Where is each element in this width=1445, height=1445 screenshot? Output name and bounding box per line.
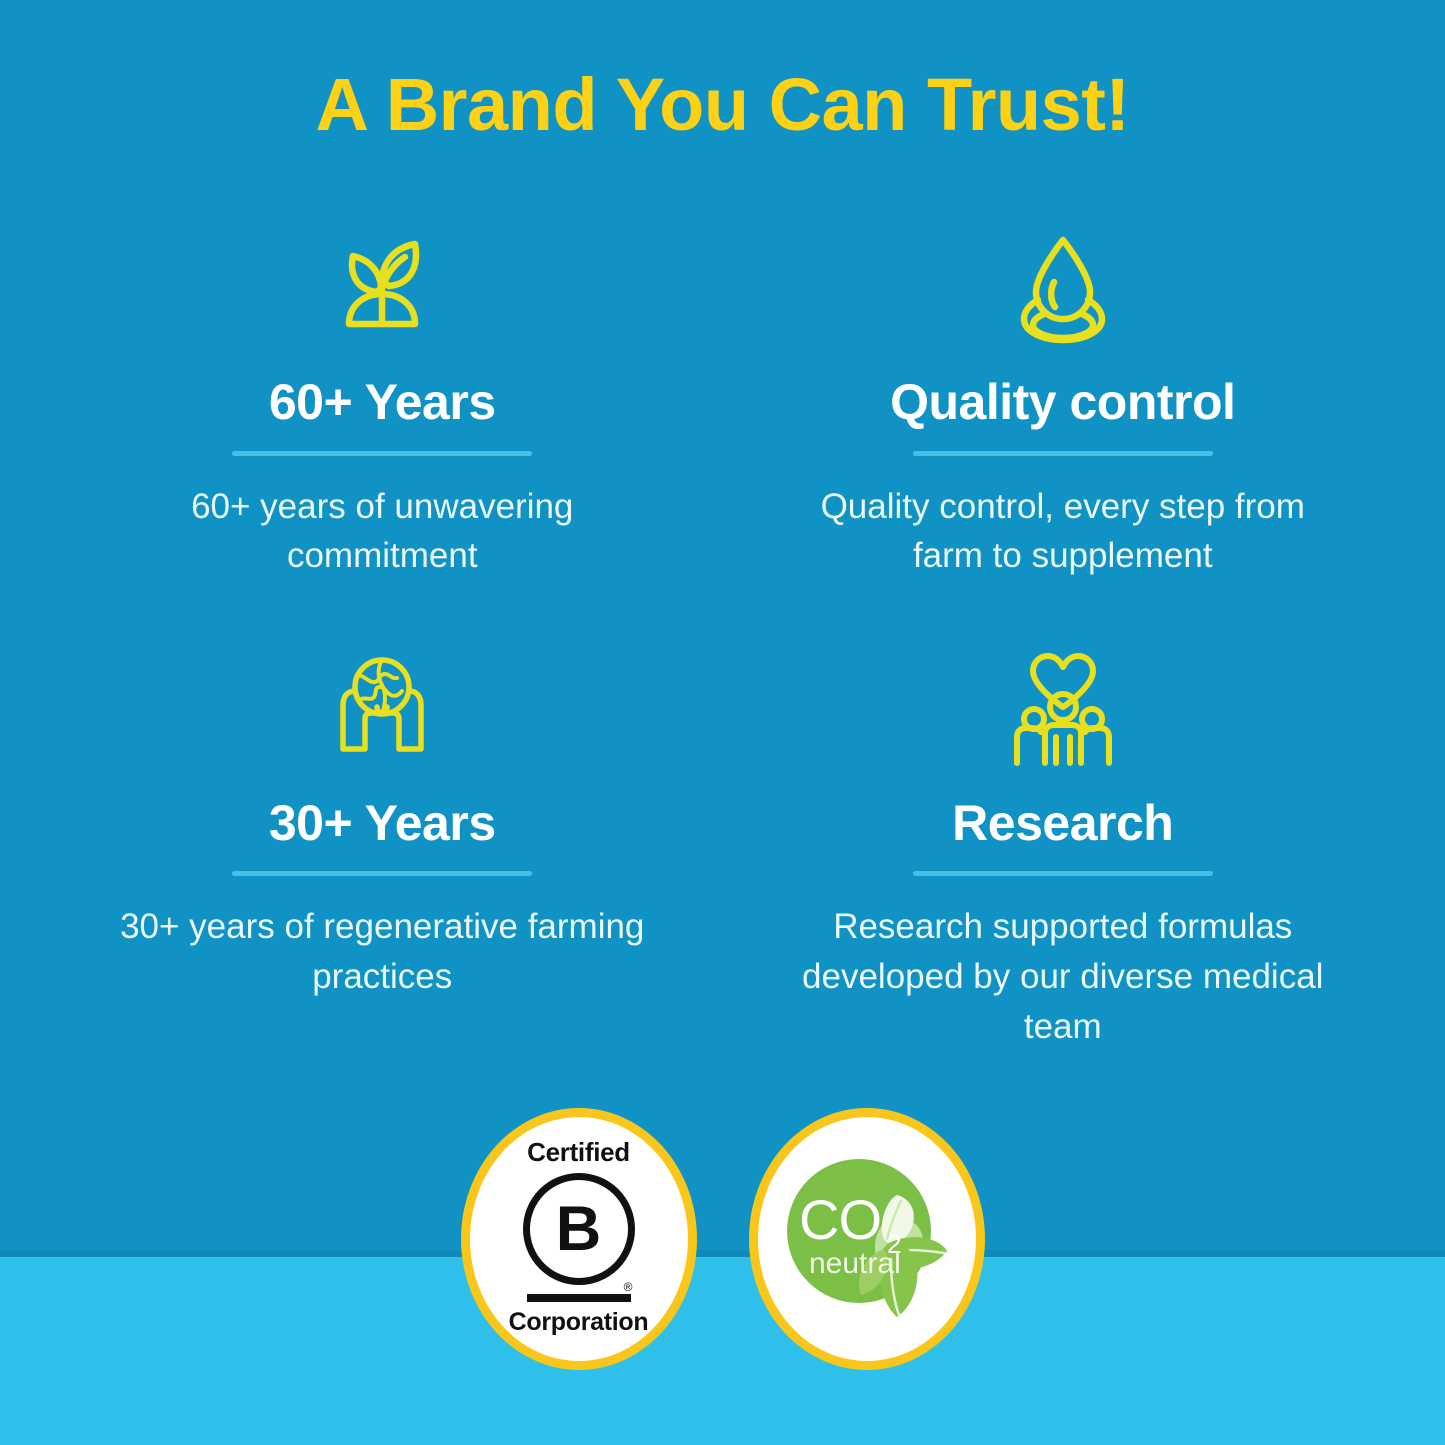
sprout-icon	[319, 222, 445, 352]
feature-card-quality-control: Quality control Quality control, every s…	[723, 222, 1404, 581]
co2-neutral-badge: CO 2 neutral	[749, 1108, 985, 1370]
feature-title: Research	[952, 797, 1173, 850]
bcorp-b-mark: B	[523, 1173, 635, 1285]
bcorp-certified-label: Certified	[527, 1139, 630, 1165]
svg-text:CO: CO	[799, 1188, 881, 1251]
bcorp-rule	[527, 1294, 631, 1302]
feature-card-60-years: 60+ Years 60+ years of unwavering commit…	[42, 222, 723, 581]
feature-body: Research supported formulas developed by…	[783, 902, 1343, 1051]
svg-text:neutral: neutral	[809, 1247, 901, 1280]
globe-in-hands-icon	[319, 643, 445, 773]
certified-b-corporation-badge: Certified B ® Corporation	[461, 1108, 697, 1370]
registered-trademark-icon: ®	[624, 1281, 633, 1293]
feature-divider	[913, 451, 1213, 456]
feature-title: Quality control	[890, 376, 1235, 429]
page-title: A Brand You Can Trust!	[0, 68, 1445, 142]
feature-body: Quality control, every step from farm to…	[783, 482, 1343, 581]
infographic-canvas: A Brand You Can Trust! 60+ Years 60+ yea…	[0, 0, 1445, 1445]
family-heart-icon	[1000, 643, 1126, 773]
bcorp-rule-group: ®	[527, 1294, 631, 1302]
feature-title: 60+ Years	[269, 376, 496, 429]
feature-divider	[232, 871, 532, 876]
water-drop-icon	[1000, 222, 1126, 352]
feature-card-research: Research Research supported formulas dev…	[723, 643, 1404, 1052]
feature-divider	[232, 451, 532, 456]
feature-body: 60+ years of unwavering commitment	[102, 482, 662, 581]
feature-card-30-years: 30+ Years 30+ years of regenerative farm…	[42, 643, 723, 1052]
co2-neutral-artwork: CO 2 neutral	[767, 1139, 967, 1339]
feature-grid: 60+ Years 60+ years of unwavering commit…	[42, 222, 1403, 1051]
feature-title: 30+ Years	[269, 797, 496, 850]
feature-divider	[913, 871, 1213, 876]
bcorp-corporation-label: Corporation	[509, 1310, 649, 1335]
feature-body: 30+ years of regenerative farming practi…	[102, 902, 662, 1001]
certification-badges: Certified B ® Corporation	[0, 1108, 1445, 1370]
